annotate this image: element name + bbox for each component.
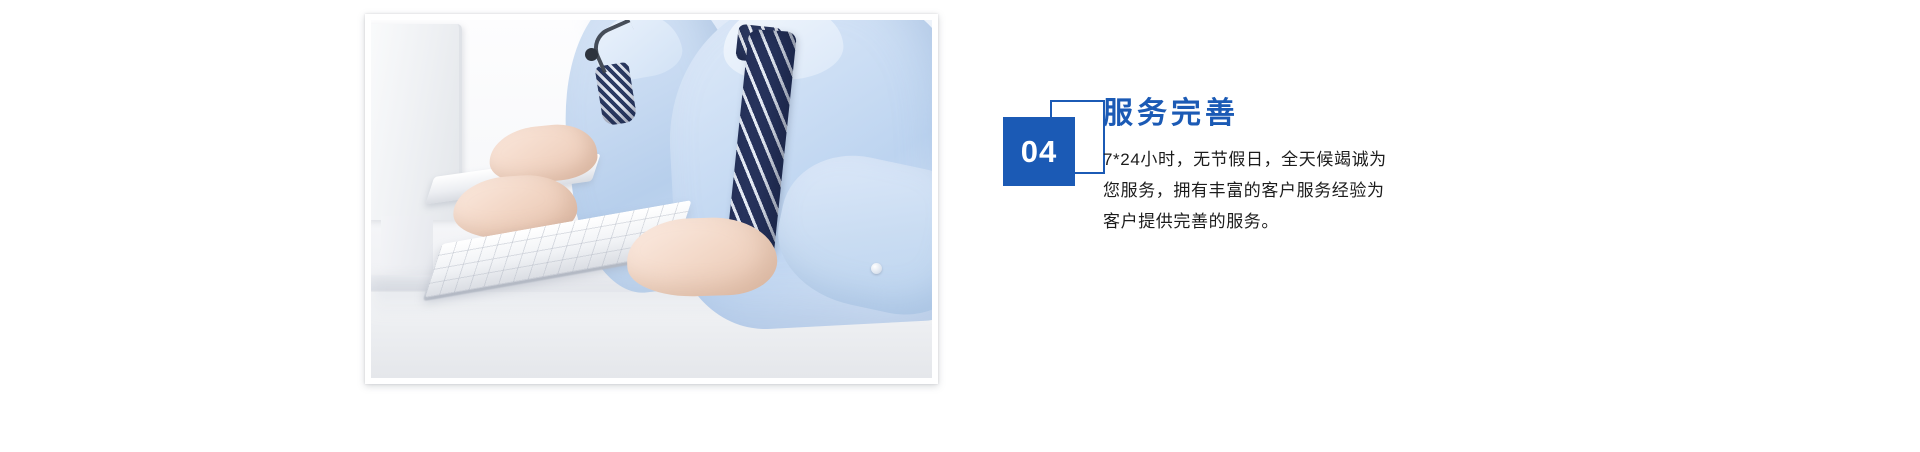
page-root: 04 服务完善 7*24小时，无节假日，全天候竭诚为 您服务，拥有丰富的客户服务… xyxy=(0,0,1920,452)
feature-photo-frame xyxy=(371,20,932,378)
feature-description-line: 您服务，拥有丰富的客户服务经验为 xyxy=(1103,175,1503,206)
feature-photo-panel xyxy=(365,14,938,384)
feature-number-badge: 04 xyxy=(1003,96,1113,188)
shirt-cuff-button xyxy=(871,263,882,274)
feature-photo-image xyxy=(371,20,932,378)
badge-filled-square: 04 xyxy=(1003,117,1075,186)
feature-description: 7*24小时，无节假日，全天候竭诚为 您服务，拥有丰富的客户服务经验为 客户提供… xyxy=(1103,144,1503,237)
feature-description-line: 7*24小时，无节假日，全天候竭诚为 xyxy=(1103,144,1503,175)
feature-text-column: 服务完善 7*24小时，无节假日，全天候竭诚为 您服务，拥有丰富的客户服务经验为… xyxy=(1103,96,1543,237)
feature-title: 服务完善 xyxy=(1103,96,1543,131)
feature-description-line: 客户提供完善的服务。 xyxy=(1103,206,1503,237)
feature-content: 04 服务完善 7*24小时，无节假日，全天候竭诚为 您服务，拥有丰富的客户服务… xyxy=(1003,96,1563,276)
monitor-stand-neck xyxy=(381,216,433,282)
badge-number-text: 04 xyxy=(1021,136,1057,167)
headset-earpad-icon xyxy=(585,48,598,61)
